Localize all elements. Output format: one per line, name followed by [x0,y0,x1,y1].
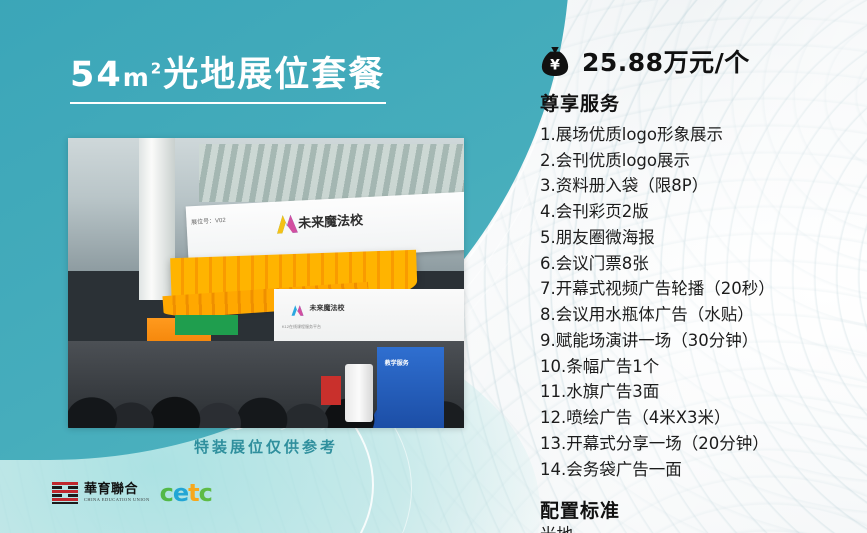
config-heading: 配置标准 [540,496,855,523]
title-number: 54 [70,55,123,95]
list-item: 10.条幅广告1个 [540,354,855,380]
list-item: 13.开幕式分享一场（20分钟） [540,431,855,457]
list-item: 12.喷绘广告（4米X3米） [540,405,855,431]
list-item: 6.会议门票8张 [540,251,855,277]
slide-canvas: 54m2光地展位套餐 未来魔法校 展位号：V02 未来魔法校 K12在线课程服务… [0,0,867,533]
list-item: 2.会刊优质logo展示 [540,148,855,174]
config-line-1: 光地 [540,523,855,533]
list-item: 9.赋能场演讲一场（30分钟） [540,328,855,354]
union-name-cn: 華育聯合 [84,483,150,496]
union-name-en: CHINA EDUCATION UNION [84,498,150,502]
logo-china-education-union: 華育聯合 CHINA EDUCATION UNION [52,482,150,504]
union-mark-icon [52,482,78,504]
services-list: 1.展场优质logo形象展示 2.会刊优质logo展示 3.资料册入袋（限8P）… [540,122,855,482]
svg-text:¥: ¥ [550,57,560,73]
cetc-letter-1: c [160,479,173,507]
page-title: 54m2光地展位套餐 [70,58,386,93]
list-item: 4.会刊彩页2版 [540,199,855,225]
cetc-letter-4: c [199,479,212,507]
logo-bar: 華育聯合 CHINA EDUCATION UNION cetc [52,481,212,505]
details-panel: ¥ 25.88万元/个 尊享服务 1.展场优质logo形象展示 2.会刊优质lo… [540,40,855,533]
photo-red-object [321,376,341,405]
photo-brand-text: 未来魔法校 [297,209,363,231]
photo-pillar [139,138,175,300]
photo-white-cylinder [345,364,373,422]
logo-cetc: cetc [160,481,212,505]
list-item: 5.朋友圈微海报 [540,225,855,251]
list-item: 3.资料册入袋（限8P） [540,173,855,199]
photo-caption: 特装展位仅供参考 [68,436,464,457]
title-block: 54m2光地展位套餐 [70,58,386,104]
union-wordmark: 華育聯合 CHINA EDUCATION UNION [84,483,150,502]
title-text: 光地展位套餐 [163,55,385,95]
photo-brand-mark-icon [273,210,300,237]
cetc-letter-3: t [188,479,198,507]
title-unit: m [123,63,151,92]
photo-staff-badge-text: 教学服务 [385,358,409,367]
list-item: 7.开幕式视频广告轮播（20秒） [540,276,855,302]
booth-photo: 未来魔法校 展位号：V02 未来魔法校 K12在线课程服务平台 教学服务 [68,138,464,428]
list-item: 8.会议用水瓶体广告（水贴） [540,302,855,328]
money-bag-icon: ¥ [540,45,570,77]
price-amount: 25.88万元/个 [582,43,750,79]
title-unit-superscript: 2 [151,59,163,77]
cetc-letter-2: e [173,479,188,507]
services-heading: 尊享服务 [540,89,855,116]
title-underline [70,102,386,104]
list-item: 14.会务袋广告一面 [540,457,855,483]
list-item: 1.展场优质logo形象展示 [540,122,855,148]
list-item: 11.水旗广告3面 [540,379,855,405]
price-row: ¥ 25.88万元/个 [540,40,855,82]
